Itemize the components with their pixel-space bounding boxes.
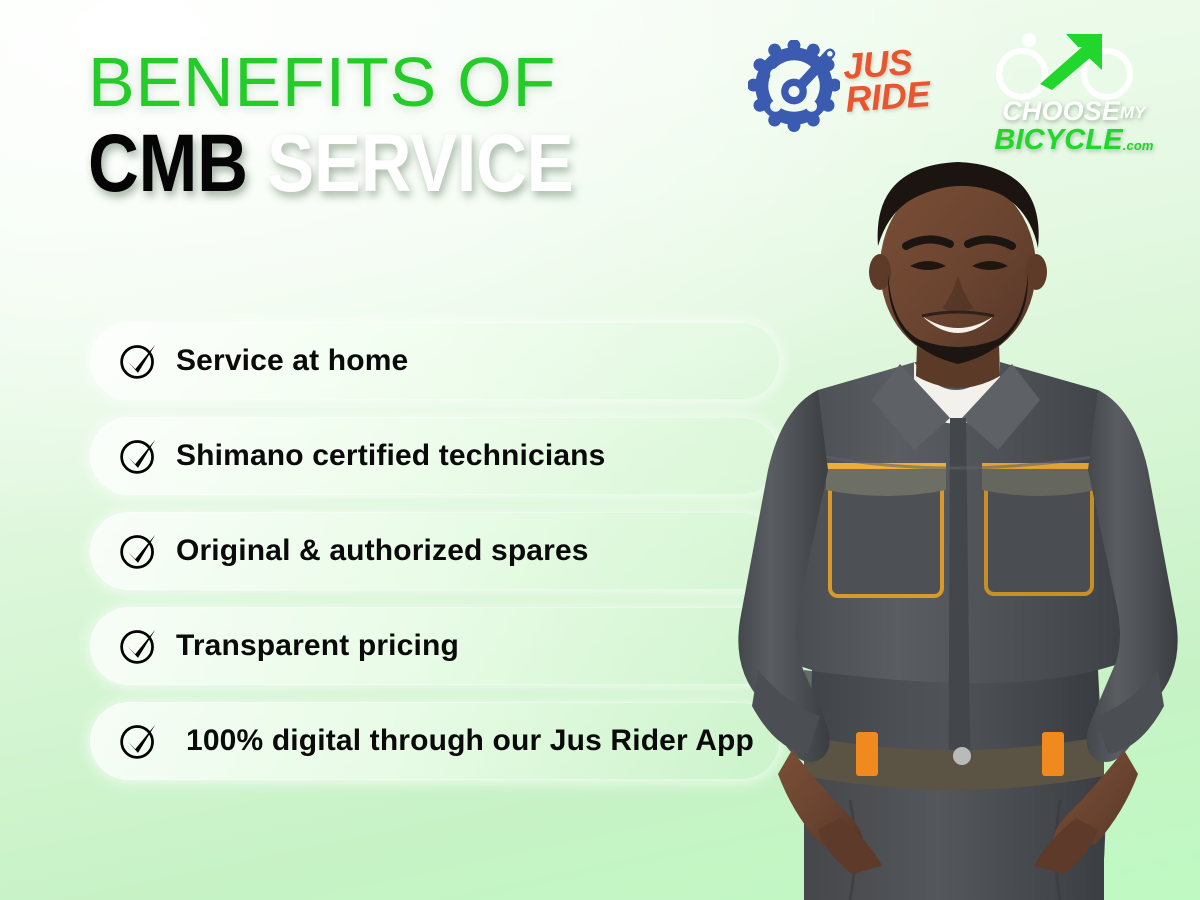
headline-line-2: CMB SERVICE <box>88 123 621 205</box>
jus-ride-wordmark: JUS RIDE <box>842 44 931 116</box>
list-item-label: Shimano certified technicians <box>176 439 605 473</box>
page-title: BENEFITS OF CMB SERVICE <box>88 48 708 205</box>
headline-line-1: BENEFITS OF <box>88 48 708 117</box>
check-circle-icon <box>118 531 158 571</box>
chainring-crank-icon <box>748 40 840 132</box>
list-item[interactable]: Original & authorized spares <box>90 512 780 590</box>
check-circle-icon <box>118 626 158 666</box>
list-item-label: 100% digital through our Jus Rider App <box>186 724 754 758</box>
benefits-list: Service at home Shimano certified techni… <box>90 322 780 797</box>
choosemybicycle-wordmark: CHOOSEMY BICYCLE.com <box>974 98 1174 155</box>
list-item[interactable]: 100% digital through our Jus Rider App <box>90 702 780 780</box>
list-item-label: Original & authorized spares <box>176 534 589 568</box>
cmb-logo-my: MY <box>1120 103 1146 122</box>
list-item-label: Service at home <box>176 344 408 378</box>
cmb-logo-choose: CHOOSE <box>1002 96 1120 126</box>
list-item[interactable]: Transparent pricing <box>90 607 780 685</box>
list-item[interactable]: Service at home <box>90 322 780 400</box>
check-circle-icon <box>118 721 158 761</box>
headline-brand-cmb: CMB <box>88 118 248 209</box>
logo-row: JUS RIDE CHOOSEMY BICYCLE.com <box>742 26 1172 166</box>
jus-ride-line-2: RIDE <box>844 77 931 116</box>
cmb-logo-line-1: CHOOSEMY <box>974 98 1174 125</box>
ear-right <box>1025 254 1047 290</box>
bicycle-arrow-icon <box>982 28 1154 102</box>
check-circle-icon <box>118 341 158 381</box>
chest-pocket-left <box>826 466 946 596</box>
chest-pocket-right <box>982 466 1096 594</box>
benefits-poster: BENEFITS OF CMB SERVICE <box>0 0 1200 900</box>
jus-ride-logo[interactable]: JUS RIDE <box>742 32 942 142</box>
list-item[interactable]: Shimano certified technicians <box>90 417 780 495</box>
smiling-technician-photo <box>700 150 1200 900</box>
check-circle-icon <box>118 436 158 476</box>
ear-left <box>869 254 891 290</box>
choosemybicycle-logo[interactable]: CHOOSEMY BICYCLE.com <box>974 26 1174 166</box>
list-item-label: Transparent pricing <box>176 629 459 663</box>
headline-word-service: SERVICE <box>267 118 573 209</box>
technician-illustration <box>700 150 1200 900</box>
